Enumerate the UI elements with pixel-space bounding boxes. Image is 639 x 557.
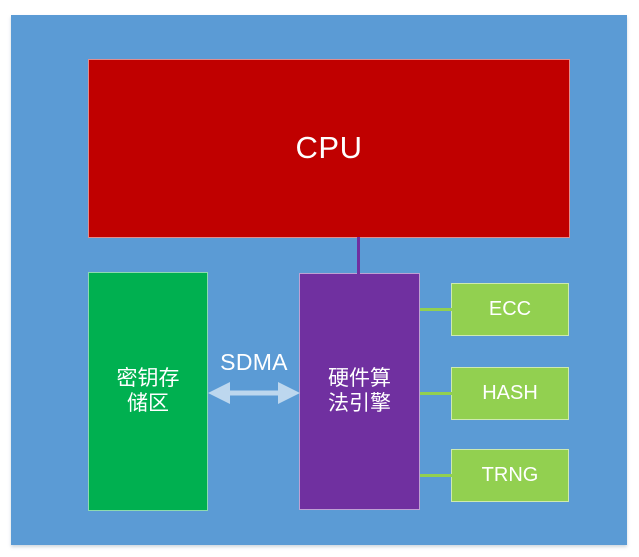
chip-boundary-frame: CPU 密钥存 储区 硬件算 法引擎 ECC HASH TRNG	[11, 15, 627, 545]
block-crypto-engine[interactable]: 硬件算 法引擎	[299, 273, 420, 510]
block-ecc[interactable]: ECC	[451, 283, 569, 336]
block-hash[interactable]: HASH	[451, 367, 569, 420]
key-storage-line-2: 储区	[117, 392, 180, 417]
block-key-storage[interactable]: 密钥存 储区	[88, 272, 208, 511]
connector-engine-to-hash	[420, 392, 452, 395]
diagram-canvas: CPU 密钥存 储区 硬件算 法引擎 ECC HASH TRNG	[0, 0, 639, 557]
block-trng-label: TRNG	[482, 464, 539, 488]
crypto-engine-line-1: 硬件算	[328, 367, 391, 392]
key-storage-line-1: 密钥存	[117, 367, 180, 392]
crypto-engine-line-2: 法引擎	[328, 392, 391, 417]
sdma-label: SDMA	[208, 349, 300, 376]
block-crypto-engine-label: 硬件算 法引擎	[328, 367, 391, 417]
block-key-storage-label: 密钥存 储区	[117, 367, 180, 417]
block-cpu-label: CPU	[296, 130, 363, 167]
connector-engine-to-ecc	[420, 308, 452, 311]
block-ecc-label: ECC	[489, 298, 531, 322]
double-headed-arrow-icon	[208, 381, 300, 405]
block-trng[interactable]: TRNG	[451, 449, 569, 502]
connector-engine-to-trng	[420, 474, 452, 477]
connector-cpu-to-crypto-engine	[357, 237, 360, 274]
block-hash-label: HASH	[482, 382, 538, 406]
sdma-connection-group: SDMA	[208, 349, 300, 405]
block-cpu[interactable]: CPU	[88, 59, 570, 238]
